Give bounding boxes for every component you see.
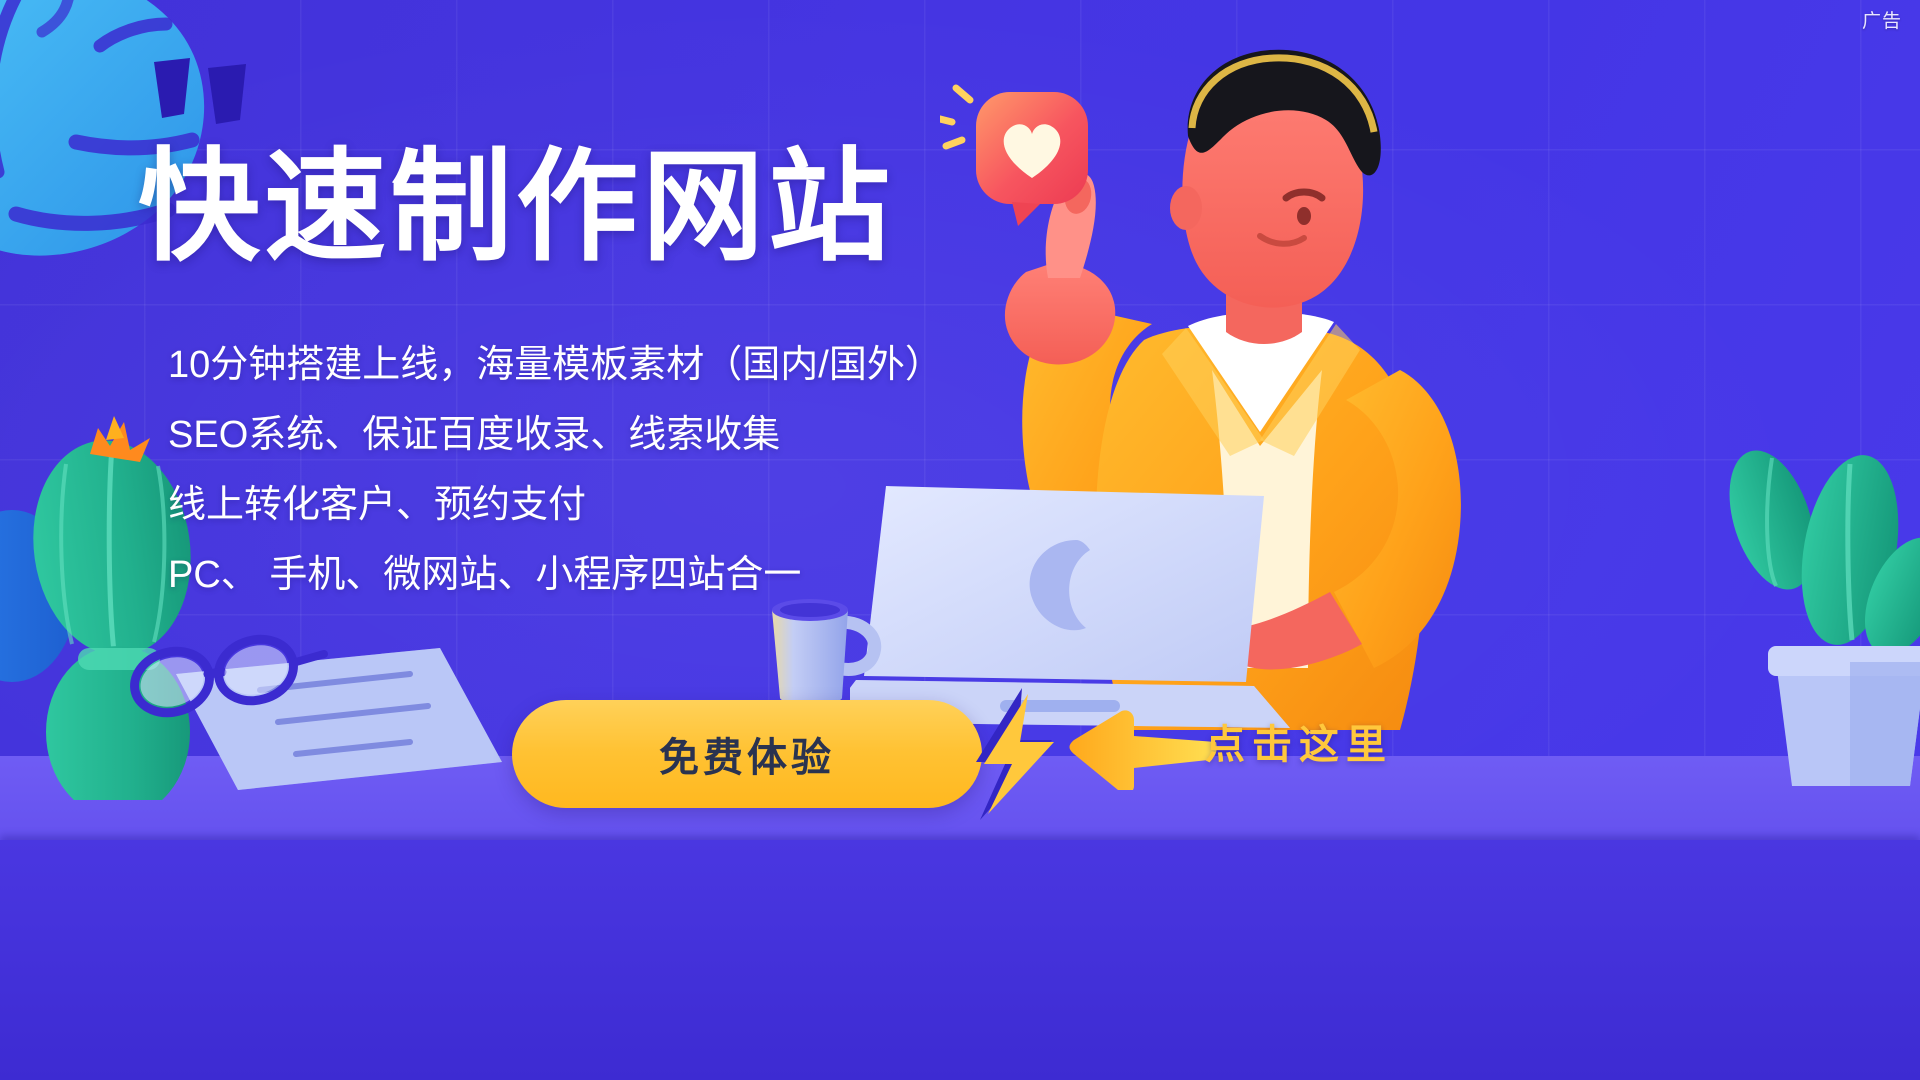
feature-list: 10分钟搭建上线，海量模板素材（国内/国外） SEO系统、保证百度收录、线索收集… (168, 346, 998, 626)
desk-items (110, 630, 540, 810)
free-trial-button[interactable]: 免费体验 (512, 700, 982, 808)
left-arrow-icon (1068, 710, 1220, 790)
list-item: SEO系统、保证百度收录、线索收集 (168, 416, 998, 454)
click-here-hint: 点击这里 (1205, 712, 1393, 770)
page-title: 快速制作网站 (138, 140, 894, 274)
potted-plant-icon (1700, 400, 1920, 800)
desk-front-panel (0, 840, 1920, 1080)
list-item: 10分钟搭建上线，海量模板素材（国内/国外） (168, 346, 998, 384)
ad-label: 广告 (1862, 6, 1902, 33)
lightning-bolt-icon (966, 688, 1058, 820)
list-item: 线上转化客户、预约支付 (168, 486, 998, 524)
list-item: PC、 手机、微网站、小程序四站合一 (168, 556, 998, 594)
quote-mark-icon (150, 58, 260, 128)
ad-banner: 广告 快速制作网站 10分钟搭建上线，海量模板素材（国内/国外） SEO系统、保… (0, 0, 1920, 1080)
free-trial-button-label: 免费体验 (659, 725, 835, 783)
heart-like-bubble-icon (940, 70, 1110, 260)
